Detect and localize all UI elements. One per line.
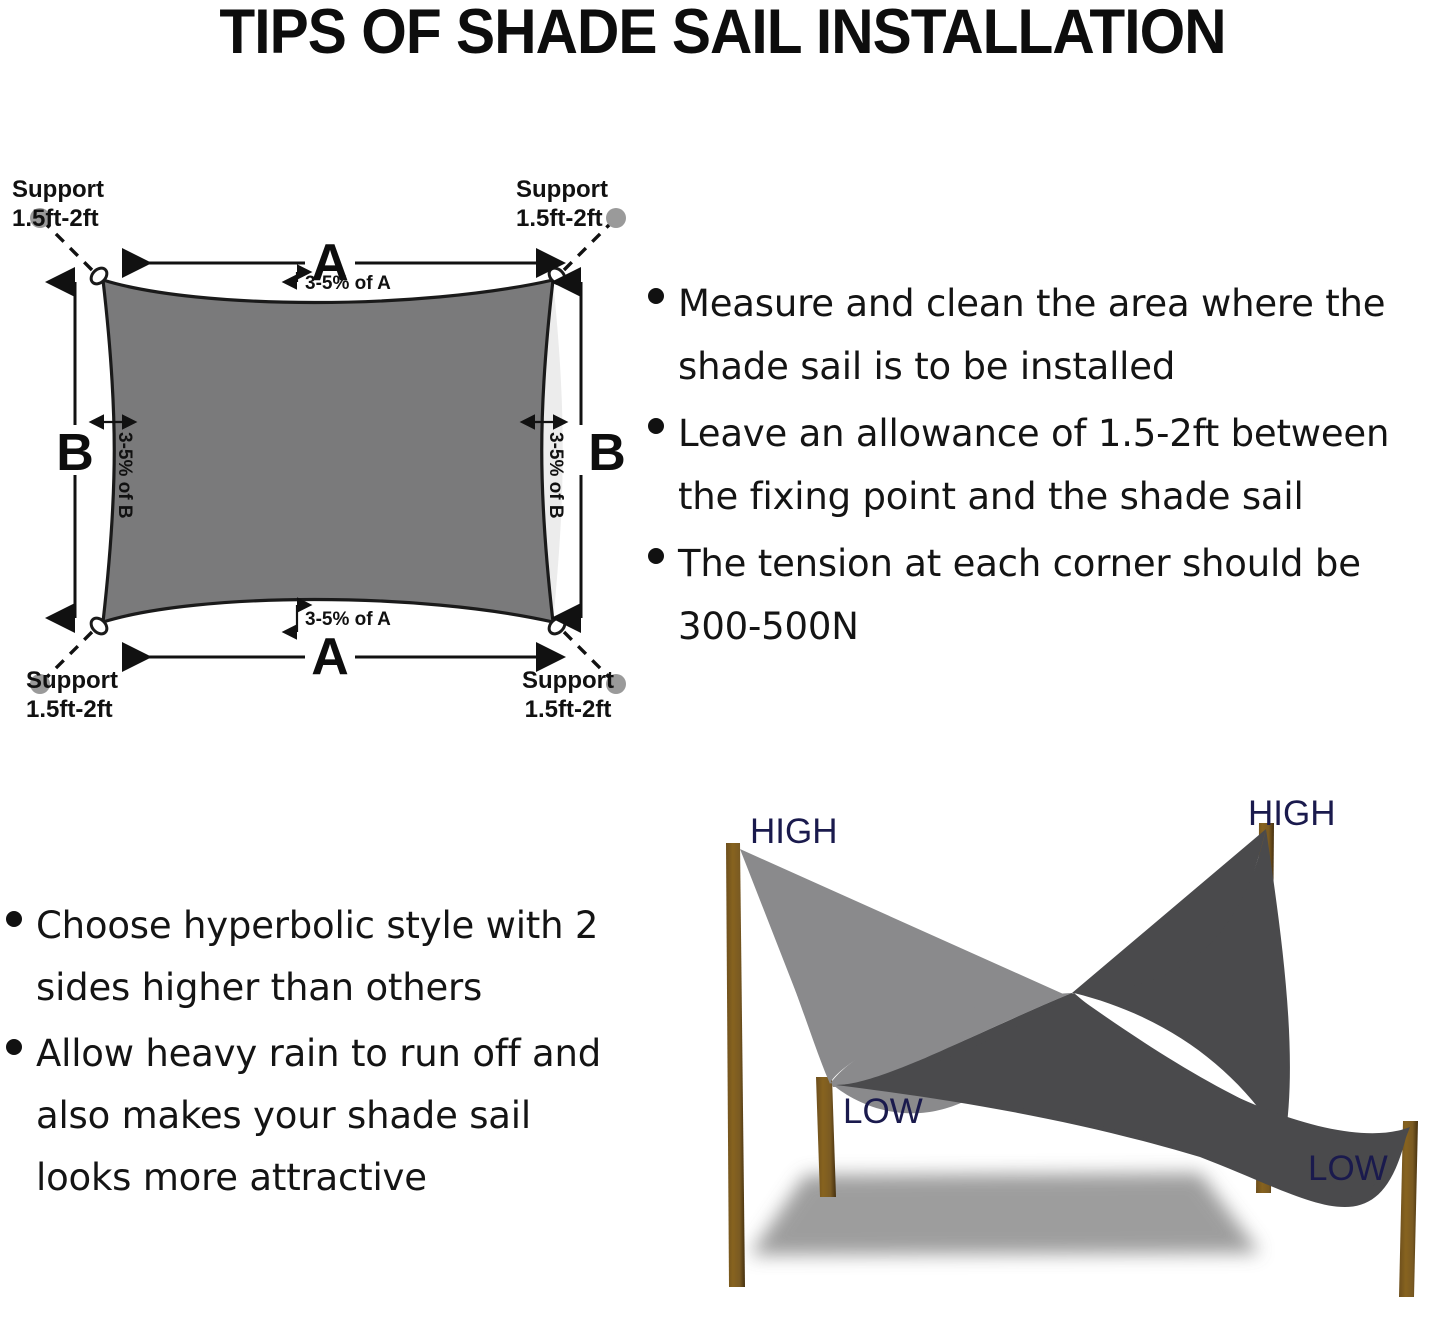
support-label-top-left-line1: Support [12,176,104,203]
sag-b-left-label: 3-5% of B [114,432,135,519]
hyperbolic-sail-illustration: HIGH HIGH LOW LOW [640,785,1445,1319]
support-dot-top-right [606,208,626,228]
rectangular-sail-diagram: A A B B 3-5% of A 3-5% of A 3-5% of B 3-… [0,160,660,740]
dimension-b-left-label: B [56,424,94,482]
support-label-bottom-left-line1: Support [26,667,118,694]
list-item: Choose hyperbolic style with 2 sides hig… [0,895,625,1019]
tip-text: Leave an allowance of 1.5-2ft between th… [678,402,1445,528]
label-high-right: HIGH [1248,794,1336,833]
list-item: Measure and clean the area where the sha… [648,272,1445,398]
page-title: TIPS OF SHADE SAIL INSTALLATION [51,0,1395,66]
tips-list-top: Measure and clean the area where the sha… [648,272,1445,662]
list-item: Allow heavy rain to run off and also mak… [0,1023,625,1209]
dimension-a-bottom-label: A [311,628,349,686]
support-label-bottom-left-line2: 1.5ft-2ft [26,696,113,723]
label-low-left: LOW [843,1092,923,1131]
tip-text: Choose hyperbolic style with 2 sides hig… [36,895,625,1019]
bullet-dot-icon [6,911,22,927]
sag-a-top-label: 3-5% of A [305,273,391,294]
support-label-bottom-right-line1: Support [522,667,614,694]
tips-list-bottom: Choose hyperbolic style with 2 sides hig… [0,895,625,1213]
sag-a-bottom-label: 3-5% of A [305,609,391,630]
sag-b-right-label: 3-5% of B [545,432,566,519]
bullet-dot-icon [648,288,664,304]
bullet-dot-icon [648,548,664,564]
list-item: Leave an allowance of 1.5-2ft between th… [648,402,1445,528]
support-label-top-left-line2: 1.5ft-2ft [12,205,99,232]
list-item: The tension at each corner should be 300… [648,532,1445,658]
label-high-left: HIGH [750,812,838,851]
tip-text: Measure and clean the area where the sha… [678,272,1445,398]
bullet-dot-icon [648,418,664,434]
support-label-top-right-line1: Support [516,176,608,203]
label-low-right: LOW [1308,1149,1388,1188]
tip-text: Allow heavy rain to run off and also mak… [36,1023,625,1209]
bullet-dot-icon [6,1039,22,1055]
support-label-bottom-right-line2: 1.5ft-2ft [525,696,612,723]
dimension-b-right-label: B [588,424,626,482]
support-label-top-right-line2: 1.5ft-2ft [516,205,603,232]
post-high-left [726,843,745,1287]
shade-sail-shape [103,280,553,622]
tip-text: The tension at each corner should be 300… [678,532,1445,658]
